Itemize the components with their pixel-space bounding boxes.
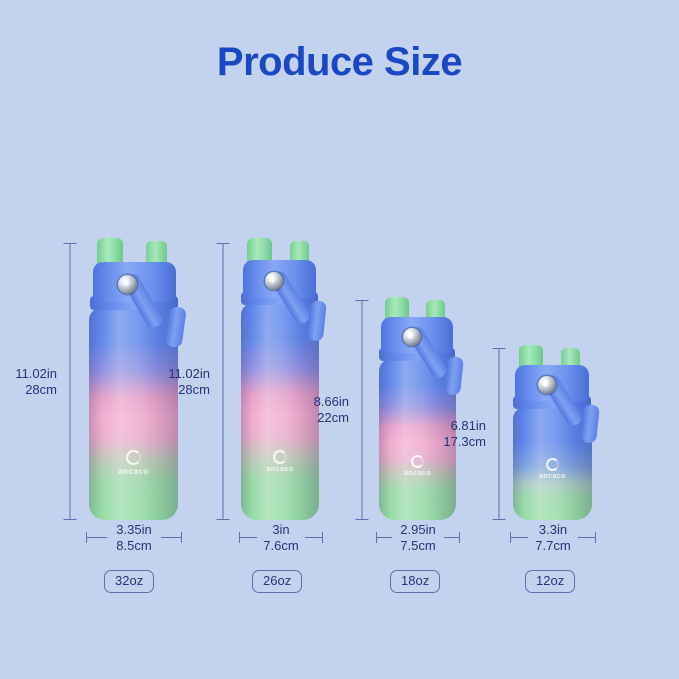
height-dimension-18oz: 8.66in 22cm	[355, 300, 368, 520]
brand-logo-12oz: ancaco	[523, 458, 582, 480]
dimension-line-left	[510, 537, 528, 538]
capacity-badge-26oz[interactable]: 26oz	[252, 570, 302, 593]
height-inches: 11.02in	[168, 366, 210, 382]
height-label-12oz: 6.81in 17.3cm	[443, 418, 486, 450]
width-inches: 3.35in	[116, 522, 151, 538]
dimension-line	[498, 348, 499, 520]
height-dimension-26oz: 11.02in 28cm	[216, 243, 229, 520]
brand-mark-icon	[126, 450, 141, 465]
brand-mark-icon	[411, 455, 424, 468]
height-dimension-12oz: 6.81in 17.3cm	[492, 348, 505, 520]
lid-lock-button-26oz	[265, 272, 283, 290]
brand-wordmark: ancaco	[99, 467, 168, 476]
height-cm: 17.3cm	[443, 434, 486, 450]
width-inches: 3in	[263, 522, 298, 538]
dimension-line-left	[376, 537, 392, 538]
height-label-26oz: 11.02in 28cm	[168, 366, 210, 398]
width-label-12oz: 3.3in 7.7cm	[535, 522, 570, 554]
brand-logo-32oz: ancaco	[99, 450, 168, 476]
width-cm: 8.5cm	[116, 538, 151, 554]
width-inches: 3.3in	[535, 522, 570, 538]
lid-lock-button-18oz	[403, 328, 421, 346]
brand-wordmark: ancaco	[389, 470, 446, 477]
width-dimension-12oz: 3.3in 7.7cm	[510, 537, 596, 538]
height-label-32oz: 11.02in 28cm	[15, 366, 57, 398]
dimension-tick-top	[355, 300, 368, 301]
brand-wordmark: ancaco	[523, 473, 582, 480]
width-cm: 7.7cm	[535, 538, 570, 554]
dimension-tick-bottom	[216, 519, 229, 520]
dimension-line-right	[444, 537, 460, 538]
dimension-line-right	[578, 537, 596, 538]
dimension-tick-top	[216, 243, 229, 244]
capacity-badge-18oz[interactable]: 18oz	[390, 570, 440, 593]
lid-lock-button-32oz	[118, 275, 137, 294]
width-cm: 7.6cm	[263, 538, 298, 554]
dimension-line	[361, 300, 362, 520]
dimension-tick-top	[492, 348, 505, 349]
dimension-line-left	[86, 537, 107, 538]
dimension-tick-bottom	[355, 519, 368, 520]
brand-mark-icon	[273, 450, 287, 464]
height-cm: 28cm	[15, 382, 57, 398]
dimension-tick-top	[63, 243, 76, 244]
height-label-18oz: 8.66in 22cm	[314, 394, 349, 426]
dimension-line-left	[239, 537, 257, 538]
height-inches: 11.02in	[15, 366, 57, 382]
brand-logo-26oz: ancaco	[251, 450, 309, 473]
dimension-line-right	[161, 537, 182, 538]
height-cm: 22cm	[314, 410, 349, 426]
height-dimension-32oz: 11.02in 28cm	[63, 243, 76, 520]
brand-mark-icon	[546, 458, 559, 471]
width-inches: 2.95in	[400, 522, 435, 538]
width-cm: 7.5cm	[400, 538, 435, 554]
dimension-tick-bottom	[63, 519, 76, 520]
width-label-18oz: 2.95in 7.5cm	[400, 522, 435, 554]
width-dimension-18oz: 2.95in 7.5cm	[376, 537, 460, 538]
lid-lock-button-12oz	[538, 376, 556, 394]
height-inches: 6.81in	[443, 418, 486, 434]
brand-wordmark: ancaco	[251, 466, 309, 473]
brand-logo-18oz: ancaco	[389, 455, 446, 477]
height-cm: 28cm	[168, 382, 210, 398]
width-label-26oz: 3in 7.6cm	[263, 522, 298, 554]
capacity-badge-12oz[interactable]: 12oz	[525, 570, 575, 593]
dimension-tick-bottom	[492, 519, 505, 520]
dimension-line	[69, 243, 70, 520]
dimension-line	[222, 243, 223, 520]
dimension-line-right	[305, 537, 323, 538]
width-dimension-32oz: 3.35in 8.5cm	[86, 537, 182, 538]
width-dimension-26oz: 3in 7.6cm	[239, 537, 323, 538]
product-card-12oz: ancaco 6.81in 17.3cm 3.3in 7.7cm 12oz	[0, 0, 679, 679]
carry-strap-lower-12oz	[580, 404, 600, 443]
height-inches: 8.66in	[314, 394, 349, 410]
product-size-infographic: Produce Size ancaco	[0, 0, 679, 679]
capacity-badge-32oz[interactable]: 32oz	[104, 570, 154, 593]
width-label-32oz: 3.35in 8.5cm	[116, 522, 151, 554]
